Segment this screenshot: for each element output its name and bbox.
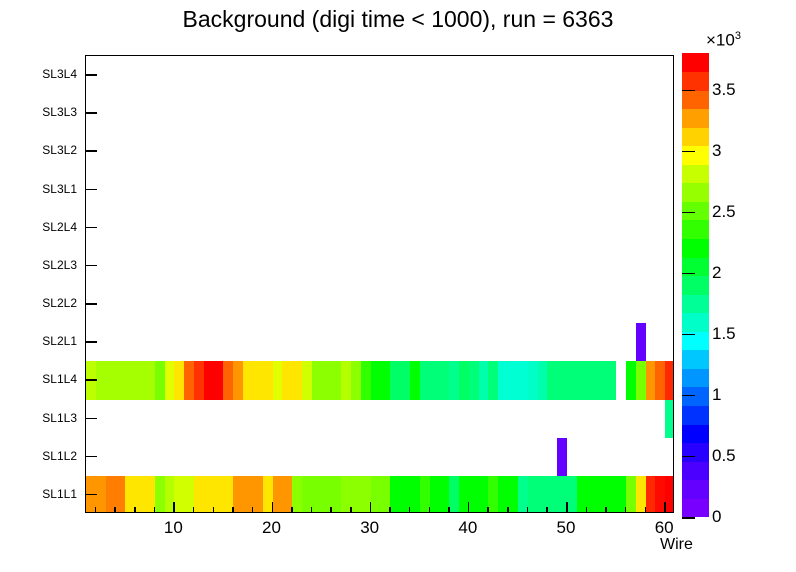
y-axis-label-sl1l1: SL1L1 <box>17 487 77 501</box>
y-axis-label-sl1l3: SL1L3 <box>17 411 77 425</box>
x-axis-tick-minor <box>95 507 97 513</box>
x-axis-tick-minor <box>625 507 627 513</box>
y-axis-label-sl2l2: SL2L2 <box>17 296 77 310</box>
colorbar-tick <box>682 273 695 275</box>
x-axis-tick-major <box>272 502 274 513</box>
x-axis-tick-label-60: 60 <box>655 518 674 538</box>
colorbar-segment <box>682 90 709 109</box>
x-axis-tick-minor <box>645 507 647 513</box>
y-axis: SL3L4SL3L3SL3L2SL3L1SL2L4SL2L3SL2L2SL2L1… <box>0 0 796 572</box>
x-axis-tick-minor <box>605 507 607 513</box>
y-axis-label-sl2l1: SL2L1 <box>17 334 77 348</box>
colorbar-tick <box>682 212 695 214</box>
y-axis-tick <box>85 456 97 458</box>
colorbar-segment <box>682 109 709 128</box>
colorbar-tick-label: 2.5 <box>712 202 736 222</box>
colorbar-segment <box>682 313 709 332</box>
x-axis-tick-minor <box>507 507 509 513</box>
x-axis-tick-minor <box>448 507 450 513</box>
x-axis-tick-major <box>468 502 470 513</box>
colorbar-tick <box>682 90 695 92</box>
colorbar-segment <box>682 220 709 239</box>
x-axis-tick-minor <box>527 507 529 513</box>
colorbar-segment <box>682 164 709 183</box>
colorbar-exponent-power: 3 <box>735 30 741 42</box>
x-axis-tick-minor <box>311 507 313 513</box>
x-axis-tick-minor <box>330 507 332 513</box>
x-axis-tick-minor <box>291 507 293 513</box>
y-axis-tick <box>85 379 97 381</box>
y-axis-tick <box>85 189 97 191</box>
root-canvas: Background (digi time < 1000), run = 636… <box>0 0 796 572</box>
y-axis-tick <box>85 227 97 229</box>
x-axis-tick-minor <box>252 507 254 513</box>
colorbar-tick-label: 1.5 <box>712 324 736 344</box>
colorbar-tick <box>682 334 695 336</box>
x-axis-tick-label-10: 10 <box>164 518 183 538</box>
x-axis-tick-minor <box>154 507 156 513</box>
colorbar-tick <box>682 517 695 519</box>
x-axis-tick-minor <box>586 507 588 513</box>
colorbar-segment <box>682 498 709 517</box>
colorbar-segment <box>682 53 709 72</box>
y-axis-label-sl2l4: SL2L4 <box>17 220 77 234</box>
y-axis-tick <box>85 494 97 496</box>
y-axis-tick <box>85 303 97 305</box>
y-axis-label-sl3l3: SL3L3 <box>17 105 77 119</box>
colorbar-tick-label: 3.5 <box>712 80 736 100</box>
colorbar-segment <box>682 369 709 388</box>
y-axis-label-sl3l2: SL3L2 <box>17 143 77 157</box>
y-axis-label-sl1l2: SL1L2 <box>17 449 77 463</box>
x-axis-tick-label-30: 30 <box>360 518 379 538</box>
x-axis-tick-minor <box>487 507 489 513</box>
colorbar-exponent-base: ×10 <box>706 31 735 50</box>
colorbar-segment <box>682 387 709 406</box>
x-axis-tick-major <box>370 502 372 513</box>
colorbar-segment <box>682 276 709 295</box>
x-axis-tick-major <box>566 502 568 513</box>
x-axis-title: Wire <box>660 536 693 554</box>
colorbar <box>682 53 709 517</box>
colorbar-segment <box>682 480 709 499</box>
y-axis-tick <box>85 74 97 76</box>
x-axis-tick-minor <box>350 507 352 513</box>
x-axis-tick-minor <box>213 507 215 513</box>
y-axis-label-sl3l1: SL3L1 <box>17 182 77 196</box>
x-axis-tick-minor <box>114 507 116 513</box>
y-axis-tick <box>85 150 97 152</box>
colorbar-tick-label: 3 <box>712 141 721 161</box>
colorbar-segment <box>682 183 709 202</box>
colorbar-tick <box>682 151 695 153</box>
y-axis-tick <box>85 265 97 267</box>
colorbar-tick <box>682 395 695 397</box>
colorbar-segment <box>682 239 709 258</box>
x-axis-tick-minor <box>429 507 431 513</box>
x-axis-tick-minor <box>134 507 136 513</box>
colorbar-segment <box>682 127 709 146</box>
colorbar-segment <box>682 72 709 91</box>
colorbar-exponent: ×103 <box>706 30 741 51</box>
x-axis-tick-minor <box>546 507 548 513</box>
colorbar-segment <box>682 443 709 462</box>
y-axis-label-sl2l3: SL2L3 <box>17 258 77 272</box>
x-axis-tick-label-50: 50 <box>557 518 576 538</box>
x-axis-tick-label-40: 40 <box>458 518 477 538</box>
y-axis-tick <box>85 112 97 114</box>
colorbar-tick-label: 0 <box>712 507 721 527</box>
x-axis-tick-minor <box>193 507 195 513</box>
y-axis-label-sl3l4: SL3L4 <box>17 67 77 81</box>
x-axis-tick-major <box>173 502 175 513</box>
colorbar-segment <box>682 406 709 425</box>
colorbar-segment <box>682 424 709 443</box>
y-axis-tick <box>85 341 97 343</box>
x-axis-tick-label-20: 20 <box>262 518 281 538</box>
colorbar-tick-label: 0.5 <box>712 446 736 466</box>
x-axis-tick-minor <box>232 507 234 513</box>
x-axis-tick-major <box>664 502 666 513</box>
x-axis-tick-minor <box>409 507 411 513</box>
colorbar-segment <box>682 461 709 480</box>
colorbar-segment <box>682 294 709 313</box>
y-axis-label-sl1l4: SL1L4 <box>17 372 77 386</box>
colorbar-tick-label: 2 <box>712 263 721 283</box>
y-axis-tick <box>85 418 97 420</box>
colorbar-tick-label: 1 <box>712 385 721 405</box>
x-axis-tick-minor <box>389 507 391 513</box>
colorbar-tick <box>682 456 695 458</box>
colorbar-segment <box>682 350 709 369</box>
colorbar-segment <box>682 146 709 165</box>
